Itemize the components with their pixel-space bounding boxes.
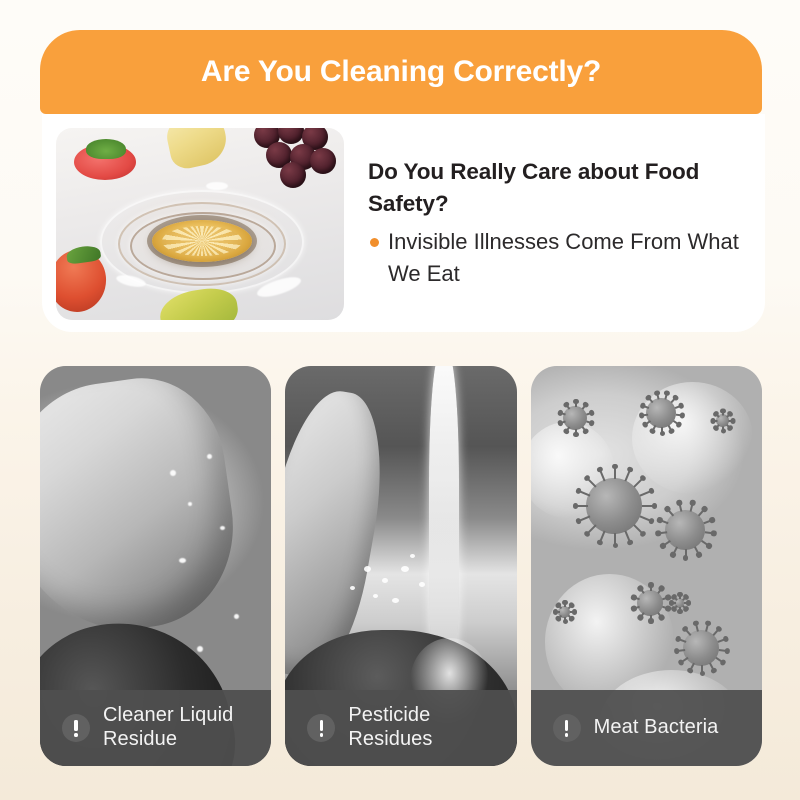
issue-panel-group: Cleaner Liquid Residue Pesticid xyxy=(40,366,762,766)
intro-card: Do You Really Care about Food Safety? In… xyxy=(42,114,765,332)
bacteria-particle xyxy=(586,478,642,534)
exclamation-circle-icon xyxy=(307,714,335,742)
intro-heading: Do You Really Care about Food Safety? xyxy=(368,156,749,220)
panel-label: Pesticide Residues xyxy=(348,704,506,751)
bacteria-particle xyxy=(558,606,570,618)
panel-caption: Cleaner Liquid Residue xyxy=(40,690,271,766)
grape xyxy=(280,162,306,188)
issue-panel-cleaner-liquid-residue[interactable]: Cleaner Liquid Residue xyxy=(40,366,271,766)
header-banner: Are You Cleaning Correctly? xyxy=(40,30,762,114)
exclamation-circle-icon xyxy=(553,714,581,742)
lemon-slice xyxy=(152,220,252,262)
bacteria-particle xyxy=(563,406,587,430)
strawberry xyxy=(74,144,136,180)
grape-cluster xyxy=(252,128,338,184)
intro-text-block: Do You Really Care about Food Safety? In… xyxy=(368,128,749,290)
intro-bullet-label: Invisible Illnesses Come From What We Ea… xyxy=(388,226,749,290)
bacteria-particle xyxy=(683,630,719,666)
intro-bullet-item: Invisible Illnesses Come From What We Ea… xyxy=(368,226,749,290)
grape xyxy=(310,148,336,174)
exclamation-circle-icon xyxy=(62,714,90,742)
panel-caption: Pesticide Residues xyxy=(285,690,516,766)
page-title: Are You Cleaning Correctly? xyxy=(201,57,601,87)
bacteria-particle xyxy=(674,598,684,608)
food-in-water-photo xyxy=(56,128,344,320)
panel-label: Cleaner Liquid Residue xyxy=(103,704,261,751)
panel-caption: Meat Bacteria xyxy=(531,690,762,766)
water-stream xyxy=(429,366,459,678)
water-highlight xyxy=(206,182,228,190)
yellow-pepper xyxy=(163,128,231,171)
infographic-poster: Are You Cleaning Correctly? xyxy=(0,0,800,800)
bullet-dot-icon xyxy=(370,238,379,247)
panel-label: Meat Bacteria xyxy=(594,716,719,740)
issue-panel-pesticide-residues[interactable]: Pesticide Residues xyxy=(285,366,516,766)
issue-panel-meat-bacteria[interactable]: Meat Bacteria xyxy=(531,366,762,766)
bacteria-particle xyxy=(665,510,705,550)
bacteria-particle xyxy=(637,590,663,616)
bacteria-particle xyxy=(716,414,729,427)
